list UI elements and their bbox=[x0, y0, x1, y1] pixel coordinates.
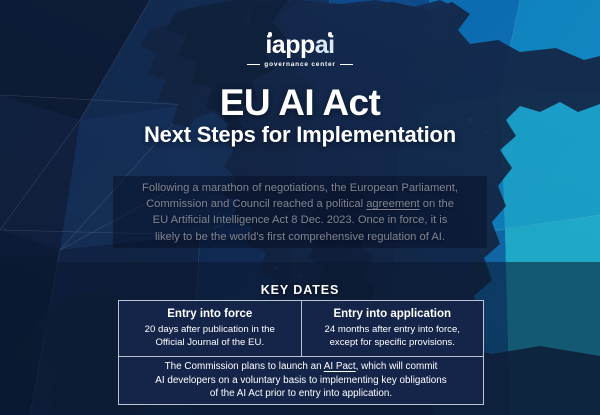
key-date-card-entry-into-application: Entry into application 24 months after e… bbox=[302, 301, 484, 356]
key-dates-cards-row: Entry into force 20 days after publicati… bbox=[118, 300, 484, 357]
brand-logo[interactable]: iappai governance center bbox=[0, 33, 600, 68]
brand-logo-primary: iapp bbox=[265, 31, 314, 59]
key-date-card-entry-into-force: Entry into force 20 days after publicati… bbox=[119, 301, 302, 356]
key-dates-heading: KEY DATES bbox=[0, 283, 600, 297]
card-body-line-2: except for specific provisions. bbox=[330, 337, 455, 348]
brand-logo-wordmark: iappai bbox=[265, 33, 334, 58]
ai-pact-line-3: of the AI Act prior to entry into applic… bbox=[210, 388, 392, 399]
page-title: EU AI Act bbox=[0, 84, 600, 121]
ai-pact-line-1-post: , which will commit bbox=[356, 361, 438, 372]
ai-pact-note-row: The Commission plans to launch an AI Pac… bbox=[118, 357, 484, 405]
card-body-line-1: 20 days after publication in the bbox=[145, 324, 275, 335]
ai-pact-note: The Commission plans to launch an AI Pac… bbox=[119, 357, 483, 404]
brand-tagline: governance center bbox=[0, 61, 600, 68]
card-title: Entry into application bbox=[333, 308, 451, 321]
ai-pact-line-2: AI developers on a voluntary basis to im… bbox=[155, 375, 446, 386]
ai-pact-link[interactable]: AI Pact bbox=[324, 361, 356, 372]
key-dates-panel: Entry into force 20 days after publicati… bbox=[118, 300, 484, 405]
ai-pact-note-body: The Commission plans to launch an AI Pac… bbox=[141, 360, 460, 400]
logo-dot-left-icon bbox=[268, 32, 273, 37]
brand-tagline-text: governance center bbox=[264, 61, 335, 68]
intro-backdrop bbox=[113, 176, 487, 248]
card-title: Entry into force bbox=[167, 308, 252, 321]
tagline-rule-left-icon bbox=[247, 64, 260, 65]
card-body: 24 months after entry into force, except… bbox=[325, 324, 460, 349]
tagline-rule-right-icon bbox=[340, 64, 353, 65]
ai-pact-line-1-pre: The Commission plans to launch an bbox=[165, 361, 324, 372]
card-body: 20 days after publication in the Officia… bbox=[145, 324, 275, 349]
page-subtitle: Next Steps for Implementation bbox=[0, 124, 600, 146]
infographic-poster: iappai governance center EU AI Act Next … bbox=[0, 0, 600, 415]
logo-dot-right-icon bbox=[328, 32, 333, 37]
card-body-line-2: Official Journal of the EU. bbox=[155, 337, 264, 348]
card-body-line-1: 24 months after entry into force, bbox=[325, 324, 460, 335]
